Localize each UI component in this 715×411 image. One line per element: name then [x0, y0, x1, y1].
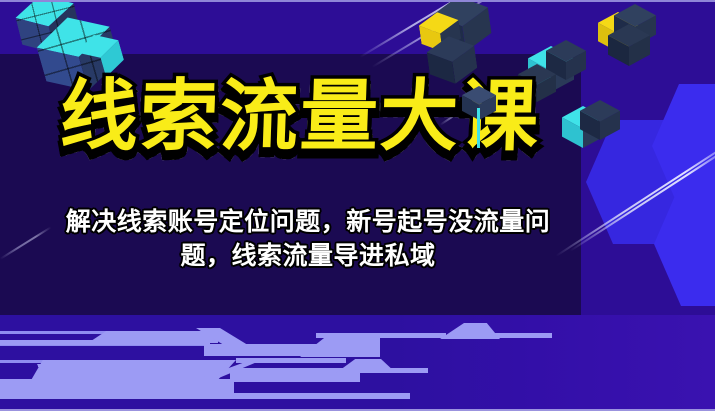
circuit-trace: [0, 393, 410, 399]
page-subtitle: 解决线索账号定位问题，新号起号没流量问题，线索流量导进私域: [48, 205, 568, 273]
page-title: 线索流量大课: [0, 78, 600, 156]
circuit-block: [86, 379, 196, 393]
circuit-block: [204, 344, 320, 356]
top-edge-line: [0, 0, 715, 2]
cube-navy-top-right-b: [608, 24, 650, 66]
circuit-hatch: [130, 331, 185, 343]
cube-stem: [477, 108, 480, 148]
circuit-hatch: [36, 364, 98, 380]
circuit-trace: [356, 368, 428, 373]
circuit-block: [186, 379, 234, 393]
circuit-trace: [236, 358, 346, 363]
circuit-trace: [316, 333, 446, 338]
course-poster: 线索流量大课 线索流量大课 解决线索账号定位问题，新号起号没流量问题，线索流量导…: [0, 0, 715, 411]
circuit-trace: [492, 333, 552, 338]
tech-circuit-bottom: [0, 315, 715, 411]
circuit-block: [0, 379, 92, 393]
circuit-connector: [440, 323, 500, 339]
